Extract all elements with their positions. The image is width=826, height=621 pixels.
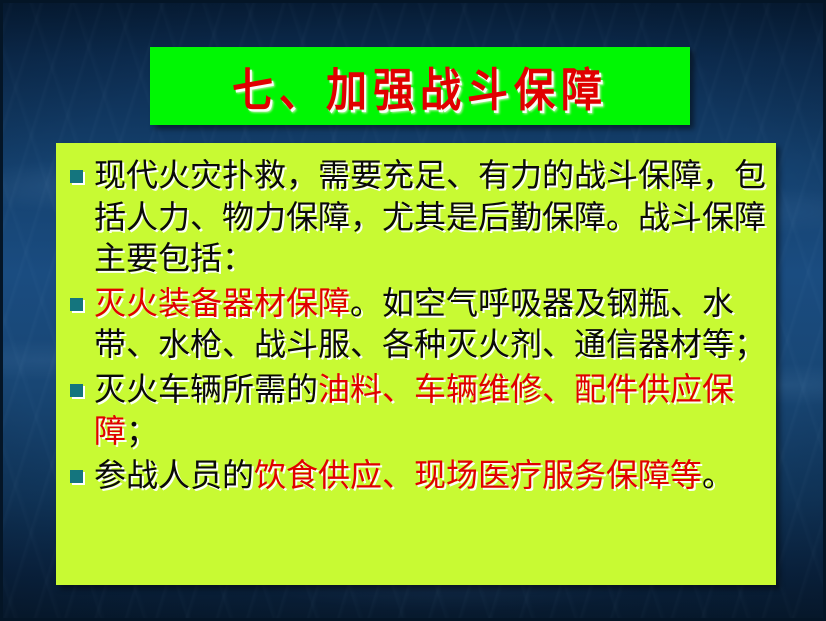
bullet-item: 现代火灾扑救，需要充足、有力的战斗保障，包括人力、物力保障，尤其是后勤保障。战斗… (70, 155, 766, 280)
bullet-square-icon (70, 470, 83, 483)
bullet-text: 灭火车辆所需的油料、车辆维修、配件供应保障； (94, 369, 766, 452)
content-panel: 现代火灾扑救，需要充足、有力的战斗保障，包括人力、物力保障，尤其是后勤保障。战斗… (56, 143, 776, 585)
bullet-square-icon (70, 170, 83, 183)
bullet-list: 现代火灾扑救，需要充足、有力的战斗保障，包括人力、物力保障，尤其是后勤保障。战斗… (70, 155, 766, 497)
bullet-text-segment: ； (126, 412, 158, 450)
title-banner: 七、加强战斗保障 (150, 47, 690, 125)
presentation-slide: 七、加强战斗保障 现代火灾扑救，需要充足、有力的战斗保障，包括人力、物力保障，尤… (0, 0, 826, 621)
bullet-text-segment: 饮食供应、现场医疗服务保障等 (254, 456, 702, 494)
bullet-item: 灭火车辆所需的油料、车辆维修、配件供应保障； (70, 369, 766, 452)
bullet-item: 灭火装备器材保障。如空气呼吸器及钢瓶、水带、水枪、战斗服、各种灭火剂、通信器材等… (70, 283, 766, 366)
bullet-text-segment: 灭火装备器材保障 (94, 284, 350, 322)
bullet-square-icon (70, 384, 83, 397)
bullet-text: 参战人员的饮食供应、现场医疗服务保障等。 (94, 455, 766, 497)
bullet-text-segment: 。 (702, 456, 734, 494)
bullet-square-icon (70, 298, 83, 311)
bullet-text: 灭火装备器材保障。如空气呼吸器及钢瓶、水带、水枪、战斗服、各种灭火剂、通信器材等… (94, 283, 766, 366)
bullet-text-segment: 现代火灾扑救，需要充足、有力的战斗保障，包括人力、物力保障，尤其是后勤保障。战斗… (94, 156, 766, 277)
bullet-text-segment: 参战人员的 (94, 456, 254, 494)
bullet-text-segment: 灭火车辆所需的 (94, 370, 318, 408)
slide-title: 七、加强战斗保障 (232, 52, 608, 119)
bullet-text: 现代火灾扑救，需要充足、有力的战斗保障，包括人力、物力保障，尤其是后勤保障。战斗… (94, 155, 766, 280)
bullet-item: 参战人员的饮食供应、现场医疗服务保障等。 (70, 455, 766, 497)
